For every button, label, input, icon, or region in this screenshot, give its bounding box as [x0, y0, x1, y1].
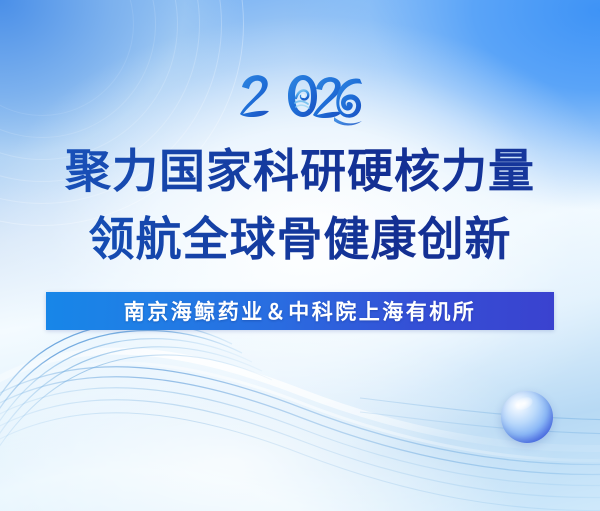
glossy-blue-sphere-icon [501, 391, 553, 443]
year-2026-logo-icon: 2026 [0, 68, 600, 130]
organisation-banner: 南京海鲸药业＆中科院上海有机所 [46, 292, 554, 330]
headline-line-2: 领航全球骨健康创新 [0, 208, 600, 270]
headline-line-1: 聚力国家科研硬核力量 [0, 140, 600, 202]
poster-canvas: 2026 2026 聚力国家科研硬核力量 领航全球骨健康创新 南京海鲸药业＆中科… [0, 0, 600, 511]
organisation-banner-label: 南京海鲸药业＆中科院上海有机所 [124, 296, 477, 326]
